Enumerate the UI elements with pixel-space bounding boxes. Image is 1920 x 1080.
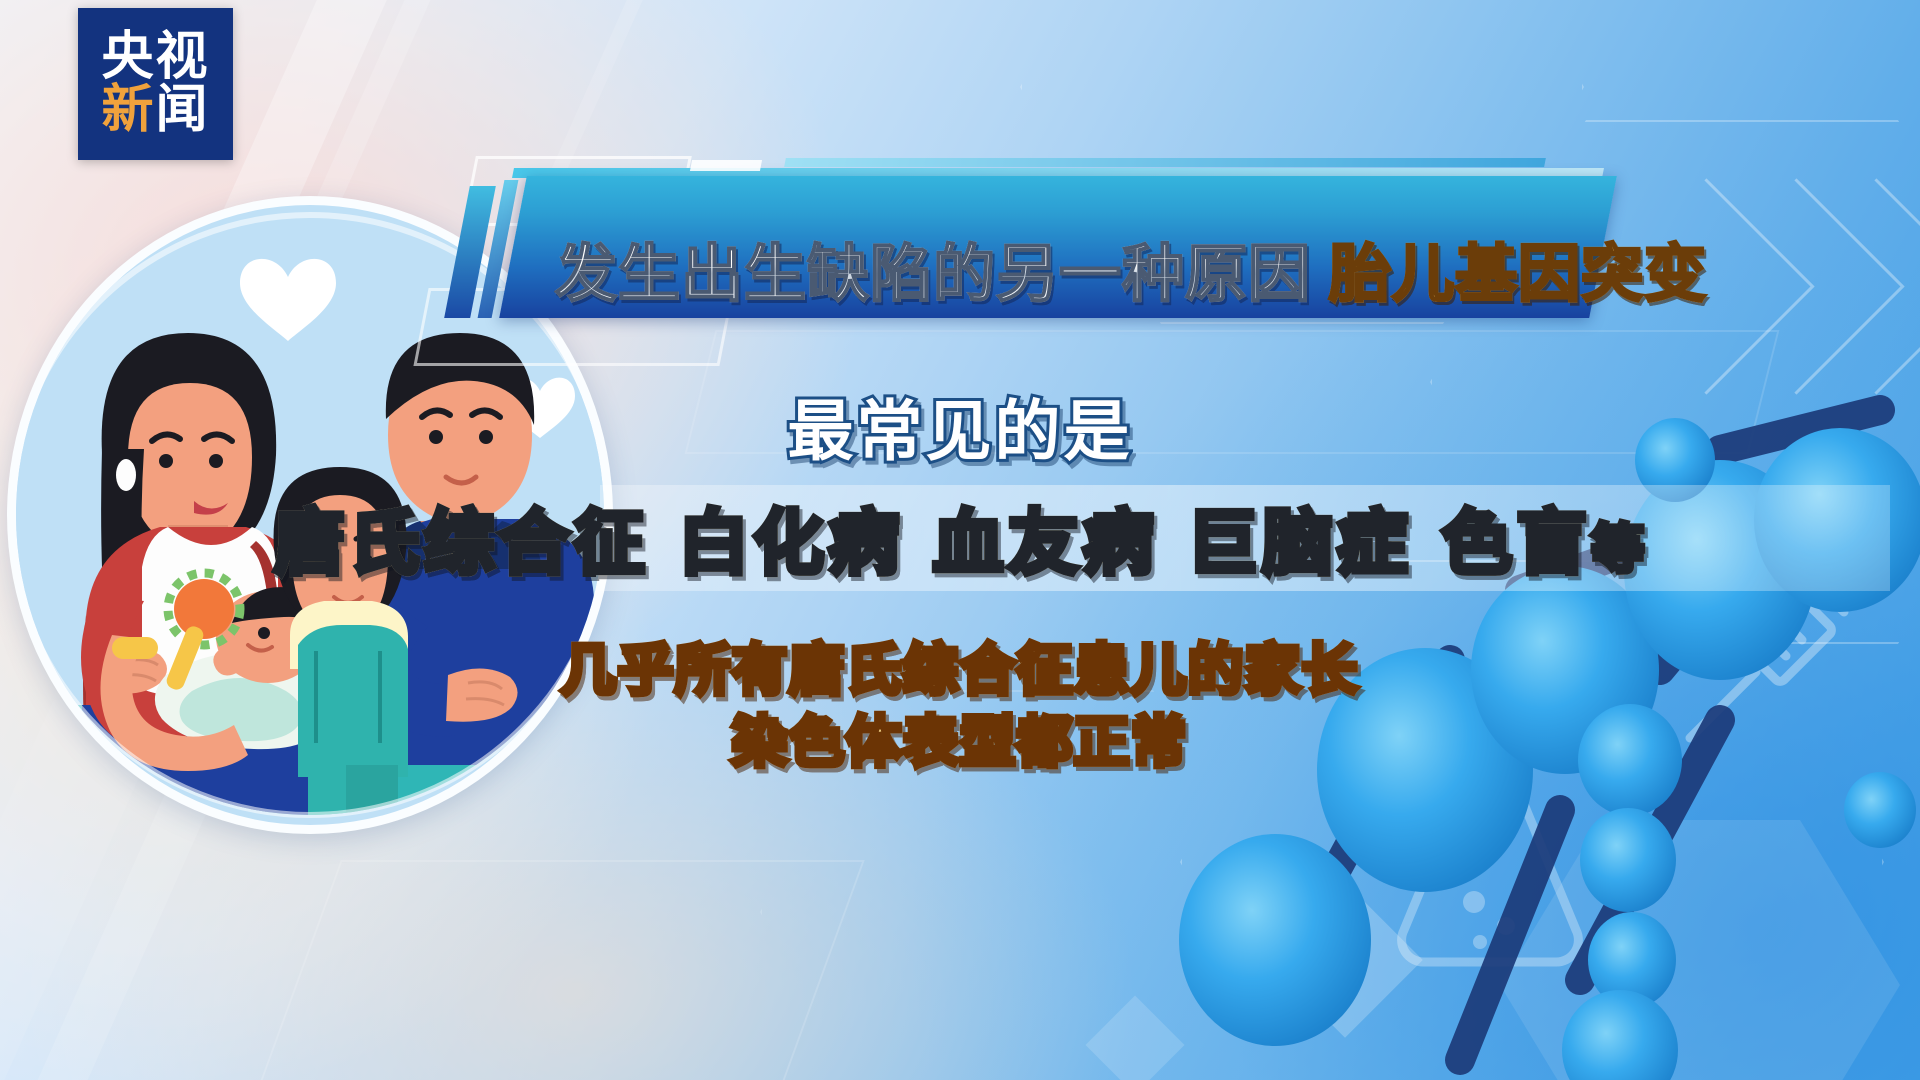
logo-char-orange: 新	[101, 80, 155, 140]
hexagon-fill	[1500, 820, 1900, 1080]
disease-list: 唐氏综合征 白化病 血友病 巨脑症 色盲等	[274, 502, 1646, 584]
banner-title-main: 发生出生缺陷的另一种原因	[555, 223, 1311, 313]
note-line-1: 几乎所有唐氏综合征患儿的家长	[0, 635, 1920, 707]
note-rows: 几乎所有唐氏综合征患儿的家长 染色体表型都正常	[0, 635, 1920, 778]
intro-line-row: 最常见的是	[0, 378, 1920, 474]
title-text-row: 发生出生缺陷的另一种原因 胎儿基因突变	[455, 150, 1725, 340]
heart-decor	[1086, 996, 1185, 1080]
intro-line: 最常见的是	[788, 393, 1133, 470]
logo-char-white: 闻	[156, 80, 210, 140]
disease-list-suffix: 等	[1592, 520, 1646, 580]
news-graphic-slide: 央视 新闻	[0, 0, 1920, 1080]
cctv-news-logo: 央视 新闻	[78, 8, 233, 160]
heart-decor	[1267, 882, 1423, 1038]
disease-list-row: 唐氏综合征 白化病 血友病 巨脑症 色盲等	[0, 487, 1920, 588]
banner-title-accent: 胎儿基因突变	[1329, 223, 1707, 313]
chevron-decor	[1768, 178, 1920, 394]
note-line-2: 染色体表型都正常	[0, 707, 1920, 779]
angled-frame	[259, 860, 865, 1080]
title-banner: 发生出生缺陷的另一种原因 胎儿基因突变	[455, 150, 1725, 340]
logo-line-2: 新闻	[101, 84, 209, 137]
disease-list-text: 唐氏综合征 白化病 血友病 巨脑症 色盲	[274, 502, 1591, 584]
logo-line-1: 央视	[101, 31, 209, 84]
